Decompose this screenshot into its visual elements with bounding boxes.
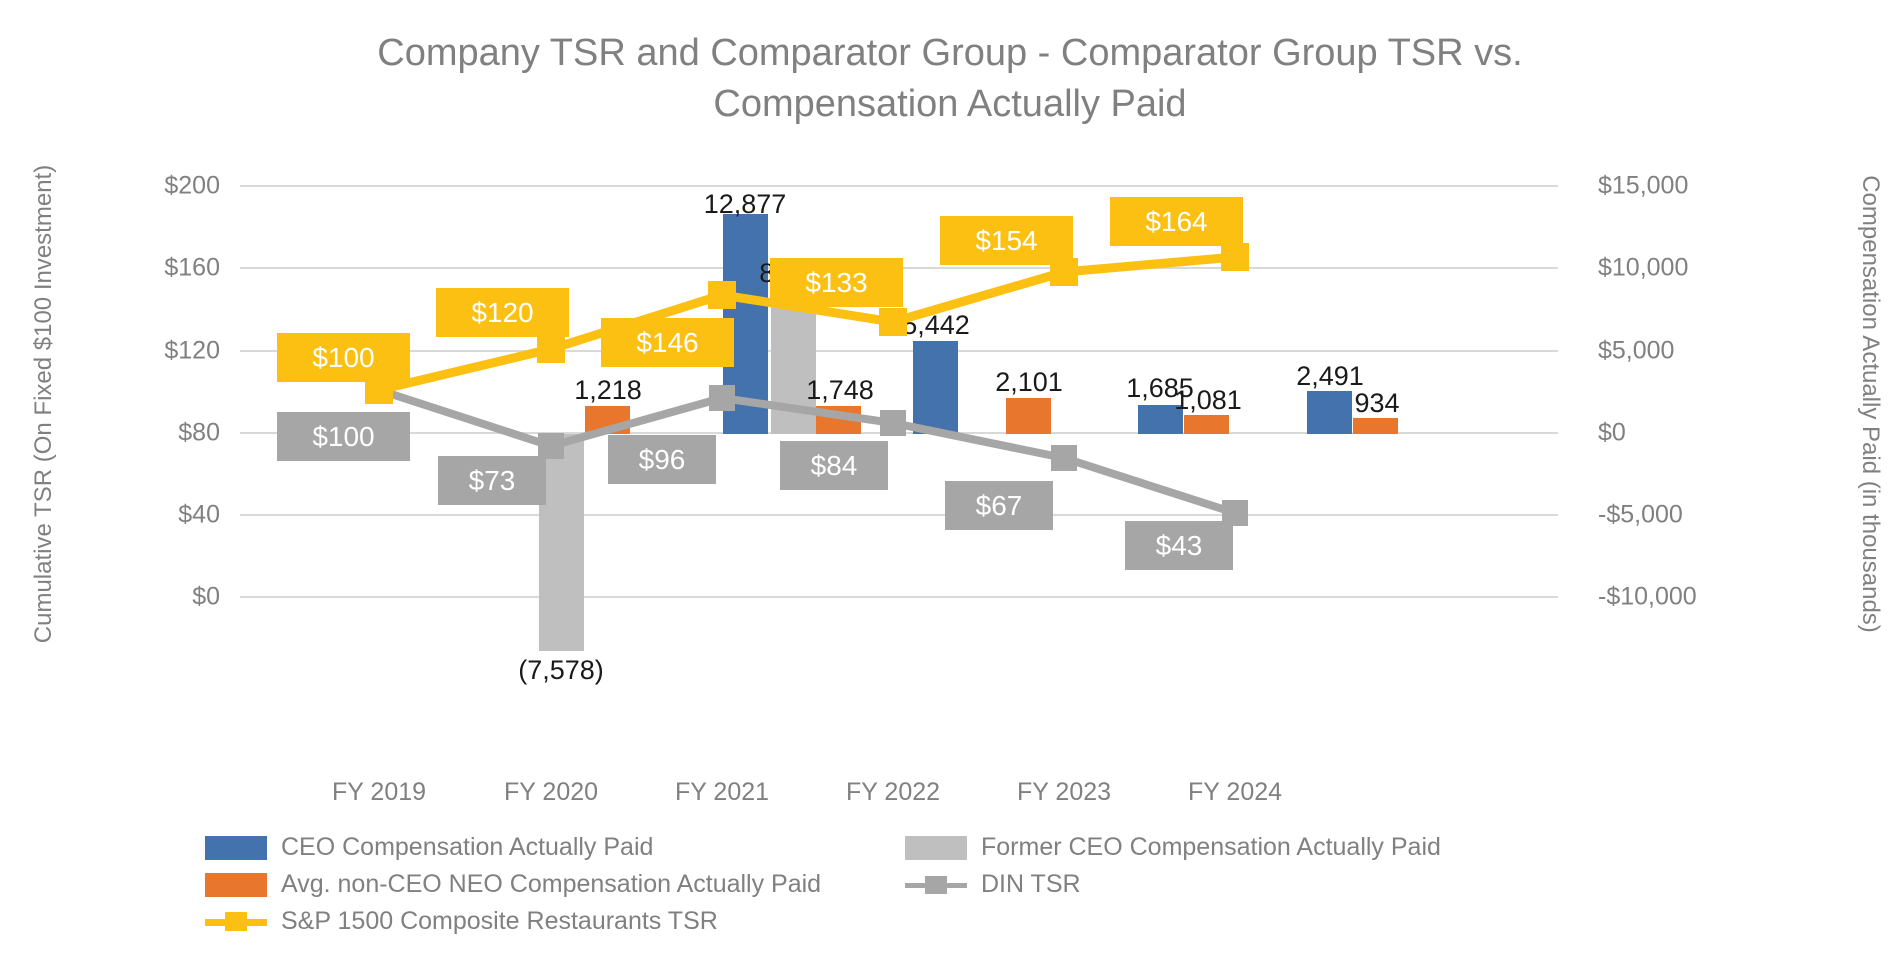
gridline (240, 185, 1558, 187)
bar-former-ceo-2021[interactable] (771, 296, 816, 434)
chart-legend: CEO Compensation Actually Paid Former CE… (205, 833, 1605, 944)
gridline (240, 596, 1558, 598)
y-axis-left-tick: $200 (100, 172, 220, 201)
y-axis-left-title: Cumulative TSR (On Fixed $100 Investment… (30, 144, 58, 664)
bar-neo-2024[interactable] (1353, 418, 1398, 434)
x-axis-tick-2020: FY 2020 (461, 778, 641, 807)
sp-marker-2021[interactable] (708, 281, 736, 309)
gridline (240, 514, 1558, 516)
x-axis-tick-2024: FY 2024 (1145, 778, 1325, 807)
y-axis-left-tick: $120 (100, 337, 220, 366)
legend-item-former-ceo[interactable]: Former CEO Compensation Actually Paid (905, 833, 1595, 862)
chart-title: Company TSR and Comparator Group - Compa… (300, 28, 1600, 131)
sp-marker-2022[interactable] (879, 308, 907, 336)
din-marker-2020[interactable] (538, 433, 564, 459)
bar-label-former-ceo-2020: (7,578) (461, 655, 661, 686)
bar-neo-2023[interactable] (1184, 415, 1229, 434)
gridline (240, 350, 1558, 352)
din-tsr-value-2022: $84 (780, 441, 888, 490)
legend-swatch-din-tsr-icon (905, 873, 967, 897)
y-axis-left-tick: $0 (100, 583, 220, 612)
legend-item-sp-tsr[interactable]: S&P 1500 Composite Restaurants TSR (205, 907, 905, 936)
bar-neo-2022[interactable] (1006, 398, 1051, 434)
sp-tsr-value-2022: $133 (770, 258, 903, 307)
y-axis-right-tick: -$5,000 (1598, 501, 1718, 530)
legend-row: Avg. non-CEO NEO Compensation Actually P… (205, 870, 1605, 899)
bar-label-ceo-2021: 12,877 (645, 189, 845, 220)
y-axis-left-tick: $160 (100, 254, 220, 283)
din-tsr-value-2023: $67 (945, 481, 1053, 530)
sp-tsr-value-2019: $100 (277, 333, 410, 382)
legend-label-ceo: CEO Compensation Actually Paid (281, 833, 653, 862)
din-tsr-value-2021: $96 (608, 435, 716, 484)
x-axis-tick-2023: FY 2023 (974, 778, 1154, 807)
legend-item-din-tsr[interactable]: DIN TSR (905, 870, 1595, 899)
y-axis-left-tick: $80 (100, 419, 220, 448)
chart-container: Company TSR and Comparator Group - Compa… (0, 0, 1898, 974)
legend-label-former-ceo: Former CEO Compensation Actually Paid (981, 833, 1441, 862)
sp-marker-2024[interactable] (1221, 243, 1249, 271)
legend-swatch-neo-icon (205, 873, 267, 897)
din-tsr-value-2020: $73 (438, 456, 546, 505)
sp-tsr-value-2021: $146 (601, 318, 734, 367)
y-axis-right-tick: $15,000 (1598, 172, 1718, 201)
sp-marker-2019[interactable] (365, 376, 393, 404)
legend-swatch-ceo-icon (205, 836, 267, 860)
y-axis-right-tick: $10,000 (1598, 254, 1718, 283)
legend-swatch-sp-tsr-icon (205, 910, 267, 934)
legend-row: S&P 1500 Composite Restaurants TSR (205, 907, 1605, 936)
x-axis-tick-2021: FY 2021 (632, 778, 812, 807)
bar-label-neo-2024: 934 (1277, 388, 1477, 419)
chart-title-line-1: Company TSR and Comparator Group - Compa… (300, 28, 1600, 79)
din-marker-2021[interactable] (709, 385, 735, 411)
legend-label-din-tsr: DIN TSR (981, 870, 1081, 899)
bar-label-neo-2020: 1,218 (508, 375, 708, 406)
y-axis-right-tick: $5,000 (1598, 337, 1718, 366)
legend-label-sp-tsr: S&P 1500 Composite Restaurants TSR (281, 907, 718, 936)
y-axis-right-title: Compensation Actually Paid (in thousands… (1856, 144, 1884, 664)
legend-row: CEO Compensation Actually Paid Former CE… (205, 833, 1605, 862)
bar-label-ceo-2022: 5,442 (836, 310, 1036, 341)
y-axis-right-tick: -$10,000 (1598, 583, 1718, 612)
din-marker-2022[interactable] (880, 410, 906, 436)
chart-title-line-2: Compensation Actually Paid (300, 79, 1600, 130)
bar-label-neo-2021: 1,748 (740, 375, 940, 406)
din-marker-2023[interactable] (1051, 445, 1077, 471)
legend-swatch-former-ceo-icon (905, 836, 967, 860)
x-axis-tick-2022: FY 2022 (803, 778, 983, 807)
legend-item-ceo[interactable]: CEO Compensation Actually Paid (205, 833, 905, 862)
sp-marker-2020[interactable] (537, 335, 565, 363)
sp-tsr-value-2024: $164 (1110, 197, 1243, 246)
x-axis-tick-2019: FY 2019 (289, 778, 469, 807)
din-tsr-value-2024: $43 (1125, 521, 1233, 570)
legend-label-neo: Avg. non-CEO NEO Compensation Actually P… (281, 870, 821, 899)
legend-item-neo[interactable]: Avg. non-CEO NEO Compensation Actually P… (205, 870, 905, 899)
y-axis-right-tick: $0 (1598, 419, 1718, 448)
sp-tsr-value-2020: $120 (436, 288, 569, 337)
bar-neo-2020[interactable] (585, 406, 630, 434)
din-tsr-value-2019: $100 (277, 412, 410, 461)
sp-marker-2023[interactable] (1050, 258, 1078, 286)
bar-neo-2021[interactable] (816, 406, 861, 434)
y-axis-left-tick: $40 (100, 501, 220, 530)
din-marker-2024[interactable] (1222, 500, 1248, 526)
